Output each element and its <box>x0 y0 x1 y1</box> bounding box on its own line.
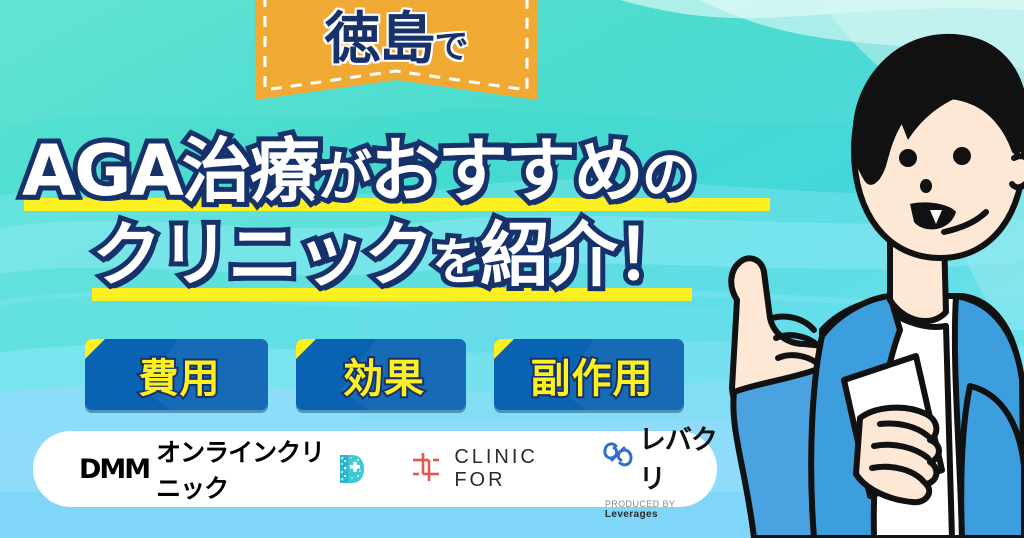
headline-line-1-text: AGA治療がおすすめの <box>22 136 822 206</box>
levacli-produced-prefix: PRODUCED BY <box>605 499 675 509</box>
headline-l2-small1: を <box>432 233 480 291</box>
dmm-d-glyph <box>339 454 365 484</box>
region-ribbon: 徳島で <box>255 0 537 106</box>
tag-effect[interactable]: 効果 <box>296 339 466 410</box>
clinic-for-text: CLINIC FOR <box>454 446 563 492</box>
headline-line-2: クリニックを紹介！ <box>0 216 800 300</box>
headline-line-2-text: クリニックを紹介！ <box>92 220 892 290</box>
levacli-link-icon <box>603 442 633 473</box>
dmm-brand-text: DMM <box>79 454 149 485</box>
dmm-service-text: オンラインクリニック <box>156 433 331 505</box>
headline-l2-big2: 紹介！ <box>480 214 684 296</box>
clinic-for-cross-glyph <box>409 450 443 484</box>
headline-l2-big1: クリニック <box>92 214 432 296</box>
levacli-link-glyph <box>603 442 633 468</box>
keyword-tags: 費用 効果 副作用 <box>85 339 684 410</box>
logo-dmm-online-clinic[interactable]: DMM オンラインクリニック <box>79 433 365 505</box>
headline-l1-big1: AGA治療 <box>22 130 318 212</box>
headline-line-1: AGA治療がおすすめの <box>0 132 800 216</box>
headline: AGA治療がおすすめの クリニックを紹介！ <box>0 132 800 300</box>
headline-l1-big2: おすすめ <box>370 130 642 212</box>
headline-l1-small1: が <box>318 145 370 208</box>
aga-clinic-banner: 徳島で AGA治療がおすすめの クリニックを紹介！ 費用 効果 副作用 <box>0 0 1024 538</box>
logo-clinic-for[interactable]: CLINIC FOR <box>409 446 563 492</box>
ribbon-label: 徳島で <box>255 12 537 68</box>
dmm-d-icon <box>339 454 365 484</box>
headline-l1-small2: の <box>642 145 694 208</box>
ribbon-region: 徳島 <box>325 7 435 72</box>
clinic-for-cross-icon <box>409 450 443 489</box>
tag-effect-label: 効果 <box>296 339 466 410</box>
ribbon-particle: で <box>435 27 468 67</box>
tag-cost[interactable]: 費用 <box>85 339 268 410</box>
tag-side-effects[interactable]: 副作用 <box>494 339 684 410</box>
tag-side-effects-label: 副作用 <box>494 339 684 410</box>
levacli-produced-brand: Leverages <box>605 509 658 520</box>
tag-cost-label: 費用 <box>85 339 268 410</box>
partner-logos-pill: DMM オンラインクリニック <box>33 431 717 507</box>
